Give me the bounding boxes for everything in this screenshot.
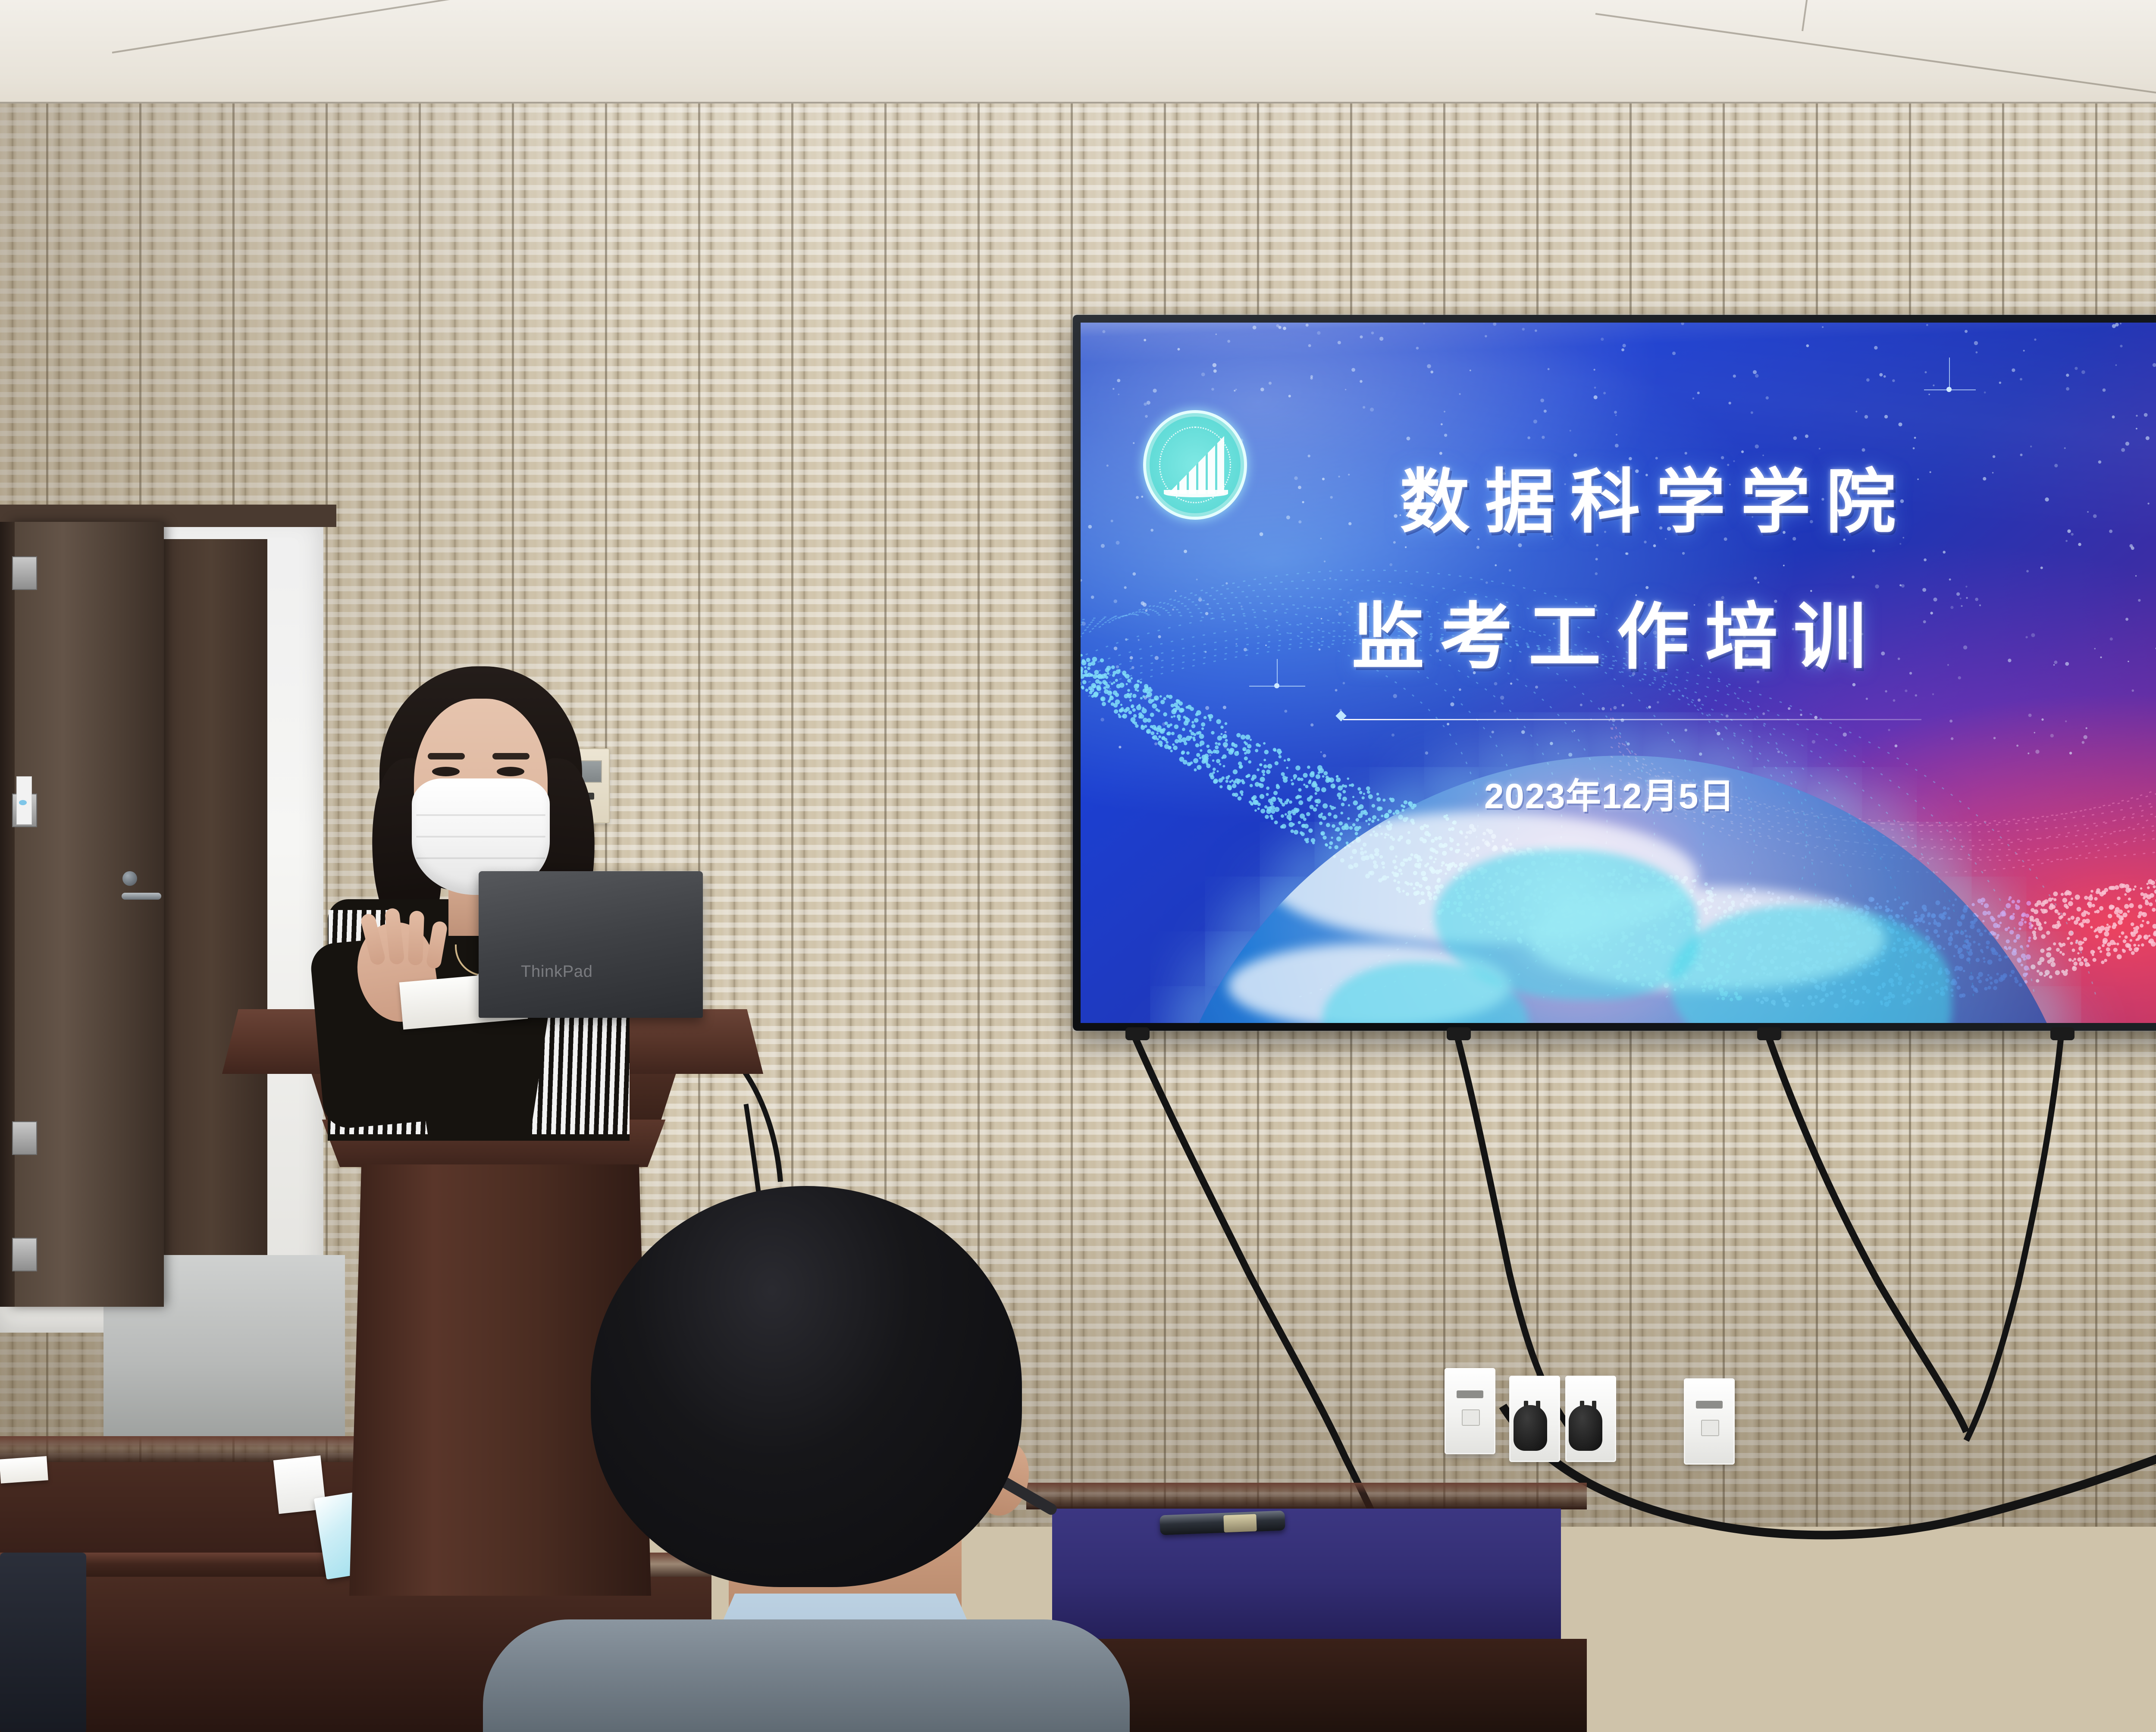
- door-edge: [0, 522, 15, 1307]
- door-sticker-dot: [19, 800, 27, 805]
- power-plug-2[interactable]: [1569, 1405, 1602, 1451]
- door-lock-cylinder[interactable]: [122, 871, 137, 886]
- open-door[interactable]: [9, 522, 164, 1307]
- door-hinge-top: [12, 556, 37, 590]
- laptop[interactable]: [479, 871, 703, 1018]
- presenter-brow-left: [428, 753, 465, 759]
- tv-screen[interactable]: 数据科学学院 监考工作培训 2023年12月5日: [1081, 323, 2156, 1023]
- microphone-band: [1223, 1514, 1257, 1533]
- data-port-plate-right[interactable]: [1684, 1378, 1735, 1465]
- power-plug-1[interactable]: [1514, 1405, 1547, 1451]
- university-emblem-icon: [1143, 410, 1247, 520]
- presenter-eye-right: [497, 767, 524, 776]
- laptop-brand-label: ThinkPad: [521, 963, 593, 981]
- data-port-plate-left[interactable]: [1445, 1368, 1495, 1454]
- room-photo-scene: 数据科学学院 监考工作培训 2023年12月5日: [0, 0, 2156, 1732]
- decorative-crosshair-left: [1249, 659, 1305, 711]
- door-hinge-lower: [12, 1121, 37, 1155]
- presenter-eye-left: [432, 767, 460, 776]
- attendee-hair: [591, 1186, 1022, 1587]
- presenter-brow-right: [492, 753, 530, 759]
- wall-mounted-television[interactable]: 数据科学学院 监考工作培训 2023年12月5日: [1073, 315, 2156, 1031]
- attendee-sweater: [483, 1619, 1130, 1732]
- emblem-hull-icon: [1164, 490, 1228, 497]
- slide-title-line-1: 数据科学学院: [1400, 445, 1911, 546]
- slide-title-line-2: 监考工作培训: [1352, 578, 1882, 683]
- presenter-finger-3: [408, 910, 424, 965]
- decorative-crosshair-top: [1924, 358, 1976, 418]
- door-hinge-bottom: [12, 1238, 37, 1271]
- chair-left[interactable]: [0, 1553, 86, 1732]
- slide-date: 2023年12月5日: [1484, 767, 1735, 819]
- slide-divider-rule: [1343, 719, 1921, 720]
- table-edge-center: [1026, 1483, 1587, 1509]
- paper-sheet-left[interactable]: [0, 1456, 48, 1484]
- door-handle[interactable]: [122, 893, 161, 900]
- desk-pad-center: [1052, 1509, 1561, 1642]
